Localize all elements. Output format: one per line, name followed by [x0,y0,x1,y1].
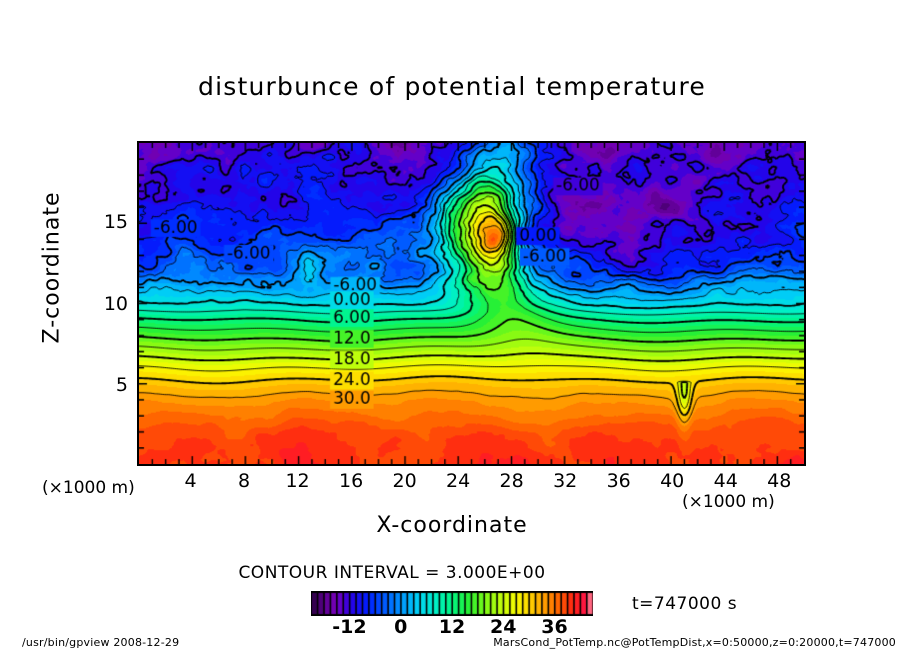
y-axis-ticklabels: 51015 [88,0,128,654]
colorbar-tick-36: 36 [533,616,577,638]
chart-title: disturbunce of potential temperature [0,72,904,101]
x-tick-44: 44 [706,470,746,492]
x-tick-40: 40 [652,470,692,492]
x-tick-24: 24 [438,470,478,492]
x-axis-label: X-coordinate [0,513,904,538]
y-tick-5: 5 [88,374,128,396]
colorbar-tick--12: -12 [327,616,371,638]
x-tick-36: 36 [599,470,639,492]
y-axis-label: Z-coordinate [40,183,65,353]
contour-interval-note: CONTOUR INTERVAL = 3.000E+00 [0,563,904,583]
z-axis-unit-label: (×1000 m) [42,478,135,498]
x-tick-16: 16 [331,470,371,492]
colorbar-ticklabels: -120122436 [311,616,593,638]
footer-datasource: MarsCond_PotTemp.nc@PotTempDist,x=0:5000… [493,636,896,649]
contour-plot-area [137,141,806,466]
colorbar-canvas [311,591,593,616]
x-tick-32: 32 [545,470,585,492]
x-tick-20: 20 [385,470,425,492]
contour-interval-text: CONTOUR INTERVAL = 3.000E+00 [238,563,545,583]
y-tick-10: 10 [88,293,128,315]
colorbar [311,591,593,616]
footer-command: /usr/bin/gpview 2008-12-29 [22,636,179,649]
timestamp-label: t=747000 s [632,594,737,614]
colorbar-tick-0: 0 [379,616,423,638]
x-tick-8: 8 [224,470,264,492]
x-axis-unit-label: (×1000 m) [682,492,775,512]
colorbar-tick-12: 12 [430,616,474,638]
colorbar-tick-24: 24 [481,616,525,638]
x-tick-12: 12 [278,470,318,492]
x-tick-28: 28 [492,470,532,492]
x-tick-48: 48 [759,470,799,492]
y-tick-15: 15 [88,211,128,233]
x-tick-4: 4 [171,470,211,492]
contour-plot-canvas [139,143,804,464]
x-axis-ticklabels: 4812162024283236404448 [137,470,806,494]
